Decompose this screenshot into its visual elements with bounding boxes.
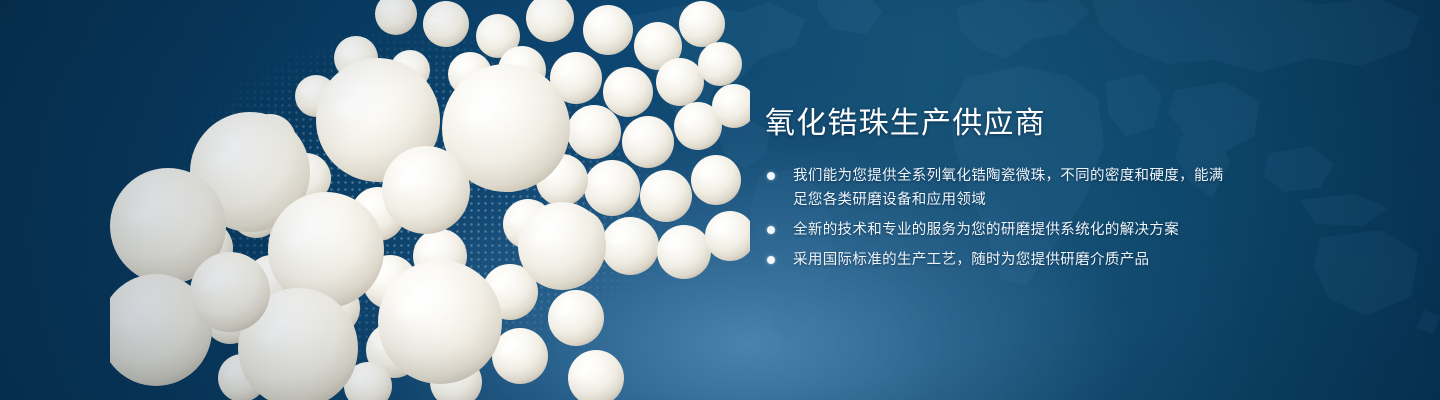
feature-bullet-list: 我们能为您提供全系列氧化锆陶瓷微珠，不同的密度和硬度，能满足您各类研磨设备和应用… (765, 164, 1235, 272)
bullet-text: 全新的技术和专业的服务为您的研磨提供系统化的解决方案 (793, 222, 1179, 238)
bullet-text: 采用国际标准的生产工艺，随时为您提供研磨介质产品 (793, 252, 1149, 268)
list-item: 我们能为您提供全系列氧化锆陶瓷微珠，不同的密度和硬度，能满足您各类研磨设备和应用… (765, 164, 1235, 212)
list-item: 全新的技术和专业的服务为您的研磨提供系统化的解决方案 (765, 218, 1235, 242)
banner-copy: 氧化锆珠生产供应商 我们能为您提供全系列氧化锆陶瓷微珠，不同的密度和硬度，能满足… (765, 104, 1235, 272)
bullet-dot-icon (767, 172, 775, 180)
bullet-dot-icon (767, 226, 775, 234)
bullet-dot-icon (767, 256, 775, 264)
list-item: 采用国际标准的生产工艺，随时为您提供研磨介质产品 (765, 248, 1235, 272)
hero-banner: 氧化锆珠生产供应商 我们能为您提供全系列氧化锆陶瓷微珠，不同的密度和硬度，能满足… (0, 0, 1440, 400)
page-title: 氧化锆珠生产供应商 (765, 104, 1235, 144)
bullet-text: 我们能为您提供全系列氧化锆陶瓷微珠，不同的密度和硬度，能满足您各类研磨设备和应用… (793, 168, 1224, 208)
